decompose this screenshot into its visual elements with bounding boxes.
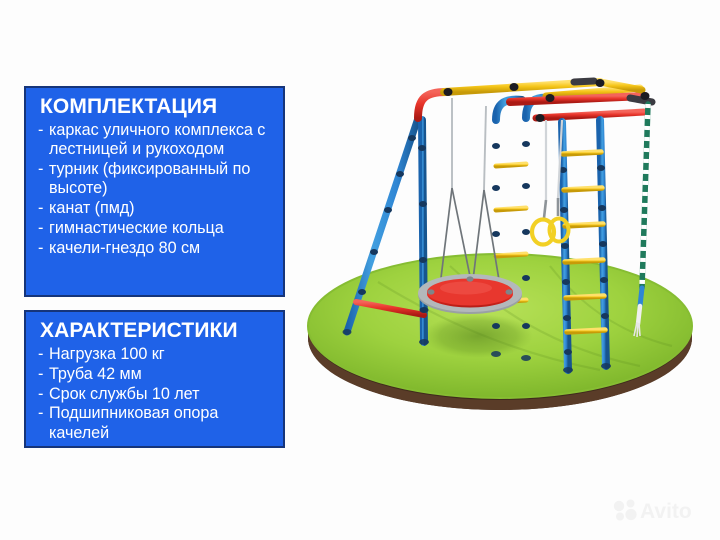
list-item: -Нагрузка 100 кг <box>38 345 273 364</box>
bullet-dash: - <box>38 121 43 140</box>
bullet-dash: - <box>38 345 43 364</box>
list-item-label: канат (пмд) <box>49 199 135 217</box>
list-item: -гимнастические кольца <box>38 219 273 238</box>
harakteristiki-list: -Нагрузка 100 кг -Труба 42 мм -Срок служ… <box>38 345 273 443</box>
bullet-dash: - <box>38 404 43 423</box>
climbing-ladder <box>559 120 609 370</box>
product-photo <box>300 70 705 420</box>
list-item-label: Срок службы 10 лет <box>49 385 199 403</box>
list-item: -Подшипниковая опора качелей <box>38 404 273 443</box>
list-item: -каркас уличного комплекса с лестницей и… <box>38 121 273 160</box>
list-item: -турник (фиксированный по высоте) <box>38 160 273 199</box>
bullet-dash: - <box>38 365 43 384</box>
bullet-dash: - <box>38 385 43 404</box>
list-item: -Срок службы 10 лет <box>38 385 273 404</box>
list-item: -качели-гнездо 80 см <box>38 239 273 258</box>
top-beams <box>444 79 653 122</box>
list-item-label: качели-гнездо 80 см <box>49 239 200 257</box>
komplektaciya-title: КОМПЛЕКТАЦИЯ <box>40 96 273 118</box>
nest-swing <box>418 98 522 314</box>
list-item: -канат (пмд) <box>38 199 273 218</box>
komplektaciya-panel: КОМПЛЕКТАЦИЯ -каркас уличного комплекса … <box>24 86 285 297</box>
bullet-dash: - <box>38 219 43 238</box>
list-item-label: турник (фиксированный по высоте) <box>49 160 250 197</box>
list-item-label: Нагрузка 100 кг <box>49 345 165 363</box>
list-item-label: Труба 42 мм <box>49 365 142 383</box>
list-item: -Труба 42 мм <box>38 365 273 384</box>
list-item-label: каркас уличного комплекса с лестницей и … <box>49 121 265 158</box>
list-item-label: Подшипниковая опора качелей <box>49 404 218 441</box>
komplektaciya-list: -каркас уличного комплекса с лестницей и… <box>38 121 273 258</box>
harakteristiki-title: ХАРАКТЕРИСТИКИ <box>40 320 273 342</box>
listing-image: КОМПЛЕКТАЦИЯ -каркас уличного комплекса … <box>0 0 720 540</box>
list-item-label: гимнастические кольца <box>49 219 224 237</box>
bullet-dash: - <box>38 199 43 218</box>
avito-watermark: Avito <box>612 497 708 523</box>
avito-wordmark: Avito <box>640 500 692 523</box>
avito-logo-icon <box>614 500 637 521</box>
bullet-dash: - <box>38 239 43 258</box>
bullet-dash: - <box>38 160 43 179</box>
harakteristiki-panel: ХАРАКТЕРИСТИКИ -Нагрузка 100 кг -Труба 4… <box>24 310 285 448</box>
